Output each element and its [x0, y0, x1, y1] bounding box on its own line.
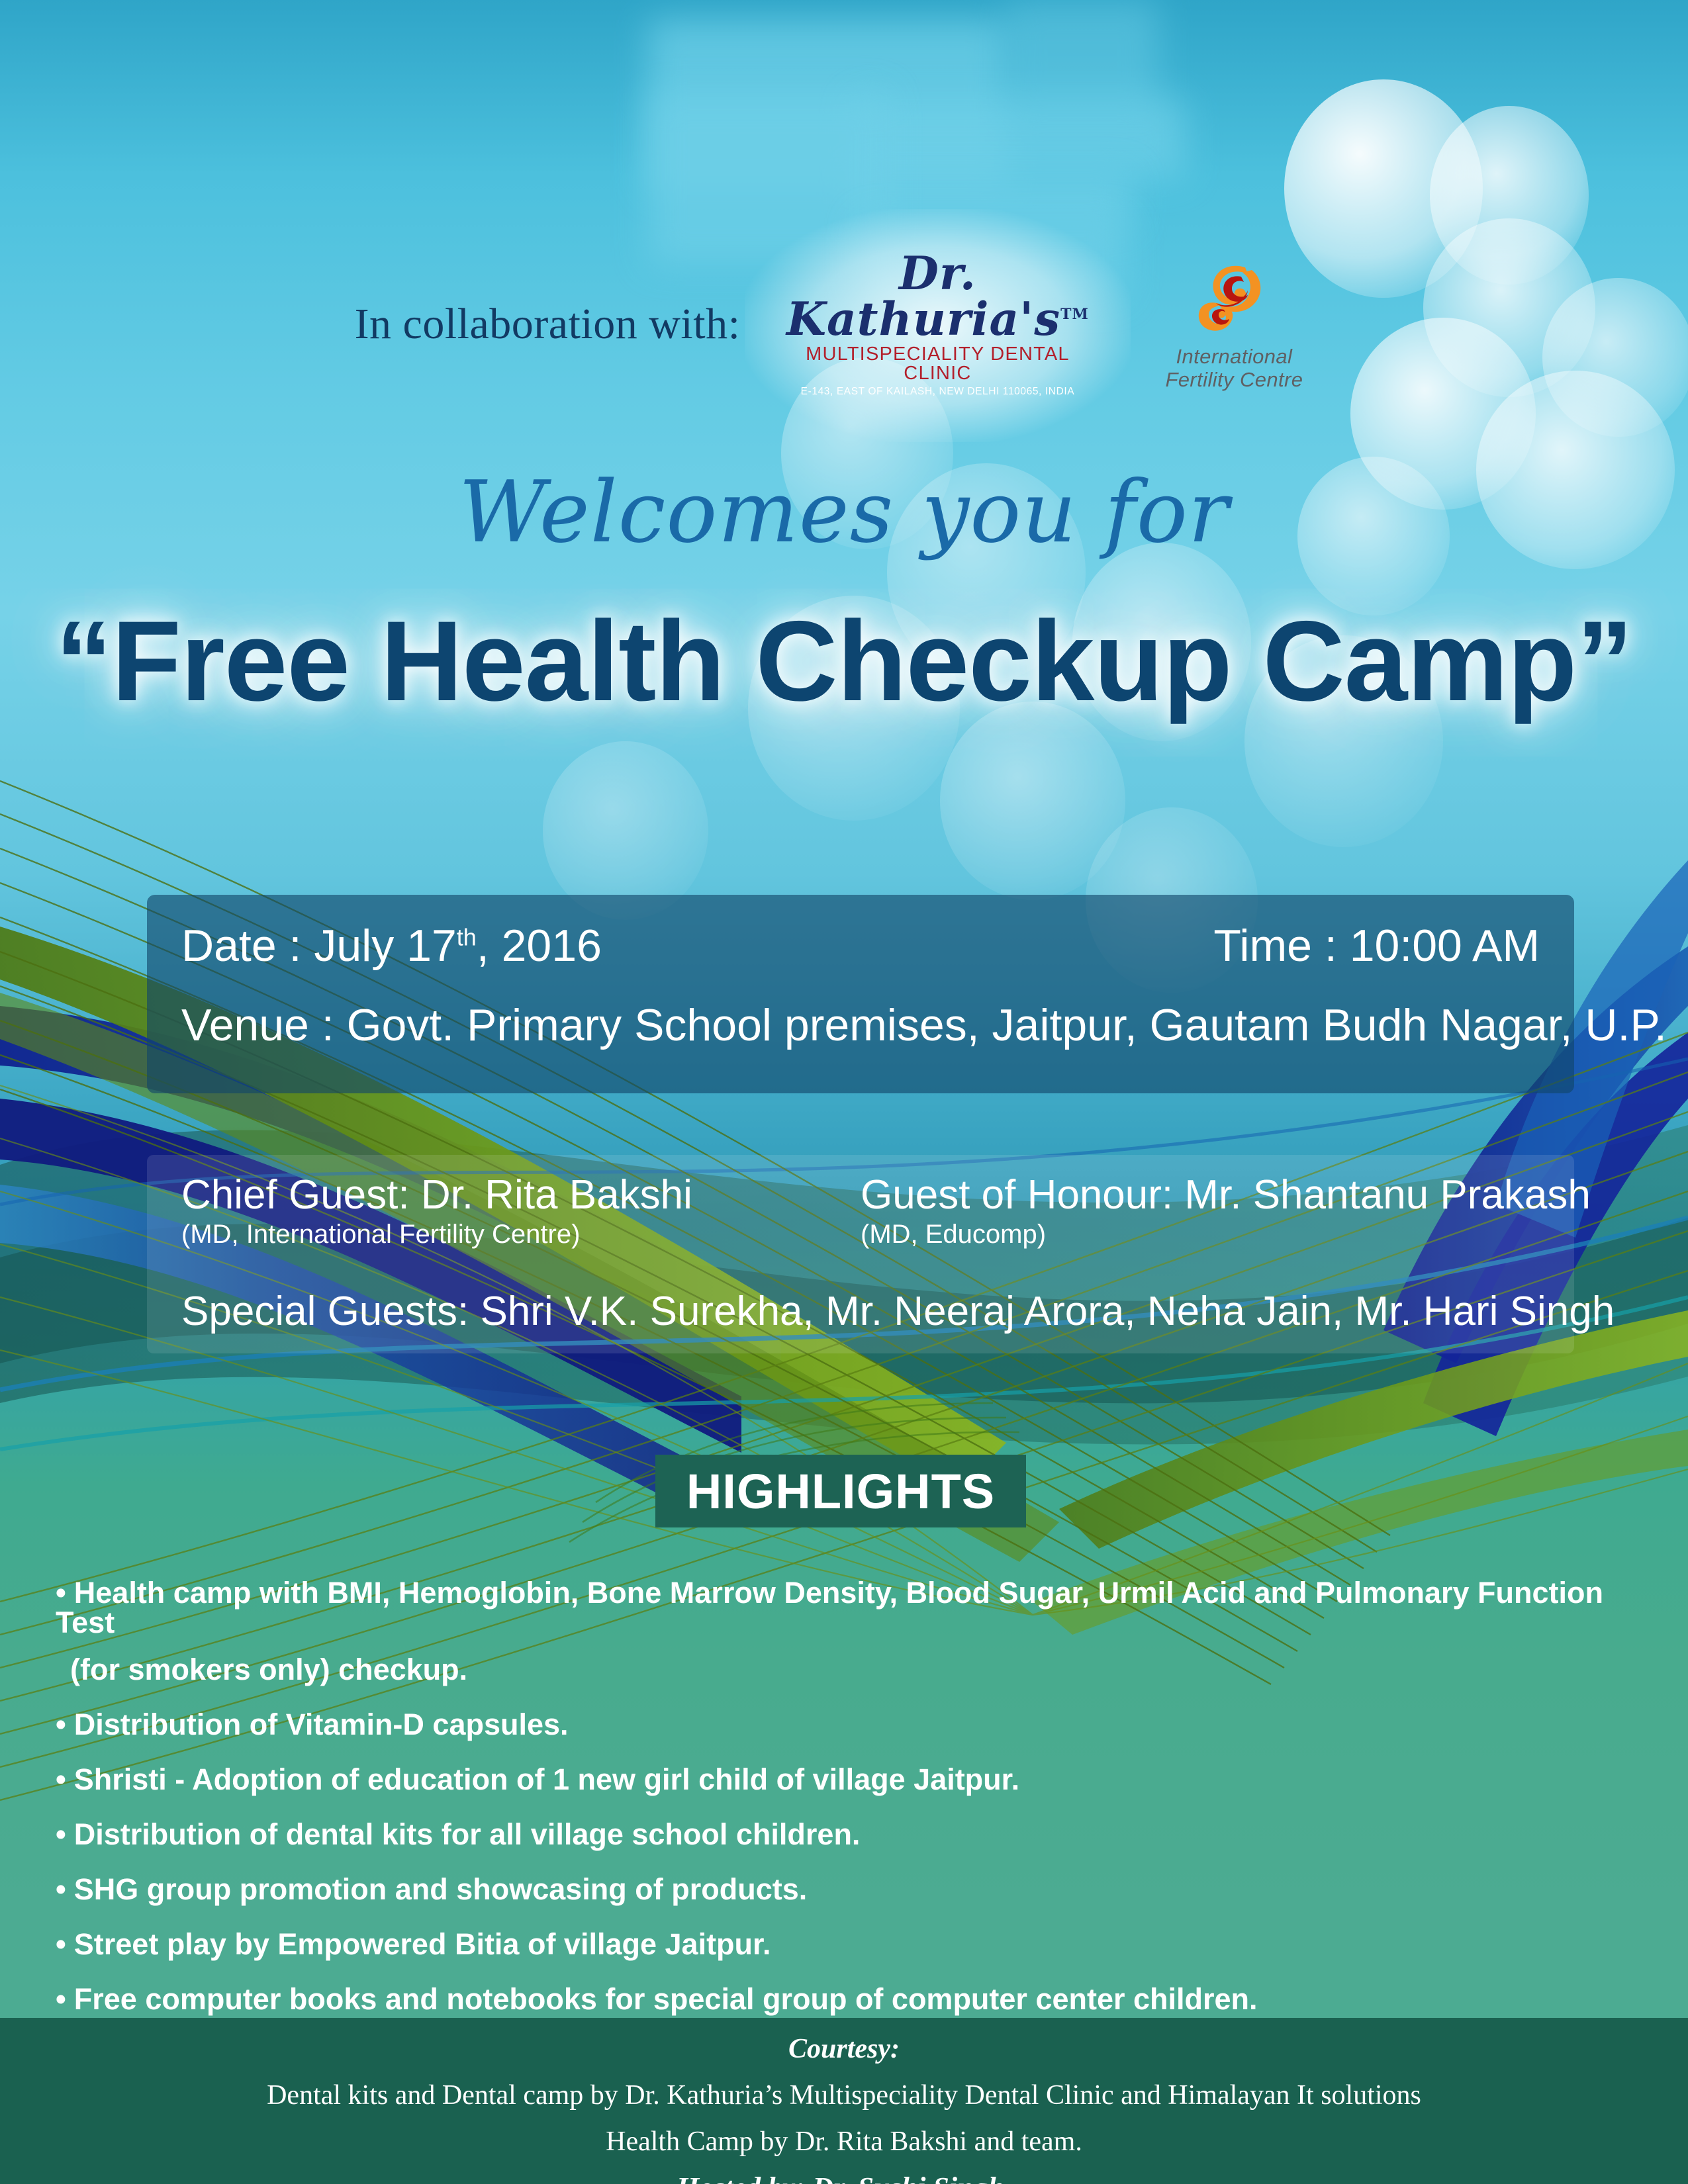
clinic-subtitle: MULTISPECIALITY DENTAL CLINIC [772, 345, 1103, 383]
hosted-by: Hosted by: Dr. Sushi Singh, [0, 2171, 1688, 2184]
faded-watermark-block-4 [649, 93, 887, 265]
chief-guest-block: Chief Guest: Dr. Rita Bakshi (MD, Intern… [181, 1173, 843, 1250]
list-item-text: Shristi - Adoption of education of 1 new… [74, 1762, 1019, 1796]
guests-columns: Chief Guest: Dr. Rita Bakshi (MD, Intern… [181, 1173, 1540, 1250]
trademark-icon: TM [1060, 306, 1089, 323]
venue-row: Venue : Govt. Primary School premises, J… [181, 999, 1540, 1051]
chief-guest-affiliation: (MD, International Fertility Centre) [181, 1220, 843, 1250]
highlights-banner: HIGHLIGHTS [655, 1455, 1026, 1527]
list-item-text: Free computer books and notebooks for sp… [74, 1982, 1258, 2016]
list-item-text: Health camp with BMI, Hemoglobin, Bone M… [56, 1576, 1603, 1639]
bullet-icon: • [56, 1982, 66, 2016]
list-item-text: Distribution of dental kits for all vill… [74, 1817, 861, 1851]
list-item-text: Distribution of Vitamin-D capsules. [74, 1707, 569, 1741]
poster-canvas: In collaboration with: Dr. Kathuria'sTM … [0, 0, 1688, 2184]
date-ordinal-suffix: th [457, 923, 477, 950]
bullet-icon: • [56, 1576, 66, 1610]
page-title: “Free Health Checkup Camp” [0, 596, 1688, 727]
list-item: •Shristi - Adoption of education of 1 ne… [56, 1764, 1644, 1794]
courtesy-line-1: Dental kits and Dental camp by Dr. Kathu… [0, 2079, 1688, 2111]
fertility-centre-logo: International Fertility Centre [1135, 257, 1333, 391]
header-row: In collaboration with: Dr. Kathuria'sTM … [0, 261, 1688, 387]
bokeh-circle [1430, 106, 1589, 285]
list-item: •Distribution of dental kits for all vil… [56, 1819, 1644, 1849]
clinic-name: Dr. Kathuria'sTM [772, 251, 1103, 342]
date-label: Date : [181, 921, 301, 971]
courtesy-label: Courtesy: [0, 2033, 1688, 2065]
date-field: Date : July 17th, 2016 [181, 920, 602, 972]
list-item-text: SHG group promotion and showcasing of pr… [74, 1872, 808, 1906]
list-item: •Free computer books and notebooks for s… [56, 1984, 1644, 2014]
time-value: 10:00 AM [1350, 921, 1540, 971]
special-guests: Special Guests: Shri V.K. Surekha, Mr. N… [181, 1288, 1540, 1335]
list-item: •Health camp with BMI, Hemoglobin, Bone … [56, 1578, 1644, 1684]
clinic-address: E-143, EAST OF KAILASH, NEW DELHI 110065… [772, 387, 1103, 397]
list-item: •Distribution of Vitamin-D capsules. [56, 1709, 1644, 1739]
venue-value: Govt. Primary School premises, Jaitpur, … [347, 1000, 1667, 1050]
highlights-list: •Health camp with BMI, Hemoglobin, Bone … [56, 1578, 1644, 2039]
date-time-row: Date : July 17th, 2016 Time : 10:00 AM [181, 920, 1540, 972]
bokeh-circle [940, 702, 1125, 900]
bullet-icon: • [56, 1927, 66, 1961]
dental-clinic-logo: Dr. Kathuria'sTM MULTISPECIALITY DENTAL … [765, 247, 1109, 402]
time-label: Time : [1213, 921, 1336, 971]
bullet-icon: • [56, 1817, 66, 1851]
faded-watermark-block-6 [1006, 0, 1158, 119]
faded-watermark-block-3 [854, 172, 1132, 232]
event-details-panel: Date : July 17th, 2016 Time : 10:00 AM V… [147, 895, 1574, 1093]
time-field: Time : 10:00 AM [1213, 920, 1540, 972]
chief-guest-name: Chief Guest: Dr. Rita Bakshi [181, 1173, 843, 1218]
collaboration-label: In collaboration with: [355, 299, 741, 349]
guests-panel: Chief Guest: Dr. Rita Bakshi (MD, Intern… [147, 1155, 1574, 1353]
footer: Courtesy: Dental kits and Dental camp by… [0, 2019, 1688, 2184]
faded-watermark-block-2 [854, 99, 1185, 179]
guest-of-honour-affiliation: (MD, Educomp) [861, 1220, 1540, 1250]
list-item: •Street play by Empowered Bitia of villa… [56, 1929, 1644, 1959]
date-value: July 17 [314, 921, 456, 971]
highlights-banner-label: HIGHLIGHTS [686, 1463, 995, 1520]
list-item: •SHG group promotion and showcasing of p… [56, 1874, 1644, 1904]
fertility-centre-line2: Fertility Centre [1135, 369, 1333, 392]
bullet-icon: • [56, 1762, 66, 1796]
clinic-name-text: Dr. Kathuria's [786, 247, 1060, 346]
bullet-icon: • [56, 1872, 66, 1906]
date-year: , 2016 [477, 921, 602, 971]
courtesy-line-2: Health Camp by Dr. Rita Bakshi and team. [0, 2126, 1688, 2158]
venue-label: Venue : [181, 1000, 334, 1050]
faded-watermark-block-1 [649, 20, 1006, 192]
fertility-centre-line1: International [1135, 345, 1333, 369]
list-item-continuation: (for smokers only) checkup. [56, 1655, 1644, 1684]
welcome-line: Welcomes you for [0, 463, 1688, 562]
fertility-swirl-icon [1184, 257, 1284, 343]
venue-field: Venue : Govt. Primary School premises, J… [181, 999, 1540, 1051]
bokeh-circle [543, 741, 708, 920]
bullet-icon: • [56, 1707, 66, 1741]
list-item-text: Street play by Empowered Bitia of villag… [74, 1927, 771, 1961]
guest-of-honour-block: Guest of Honour: Mr. Shantanu Prakash (M… [843, 1173, 1540, 1250]
guest-of-honour-name: Guest of Honour: Mr. Shantanu Prakash [861, 1173, 1540, 1218]
